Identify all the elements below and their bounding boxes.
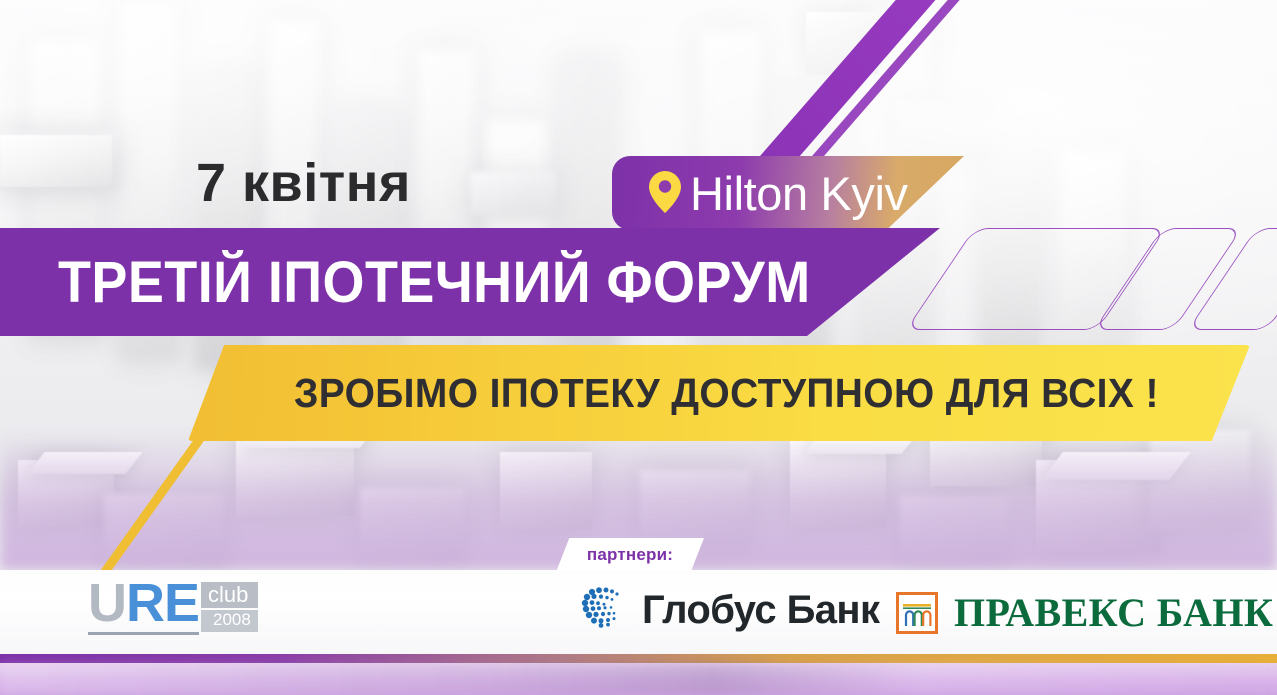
subtitle-banner: ЗРОБІМО ІПОТЕКУ ДОСТУПНОЮ ДЛЯ ВСІХ !: [188, 345, 1250, 441]
bottom-strip-shading: [0, 663, 1277, 695]
ure-club-label: club: [201, 582, 258, 608]
ure-letters-re: RE: [126, 578, 199, 630]
bottom-accent-line: [0, 654, 1277, 663]
partners-label: партнери:: [587, 545, 673, 565]
event-promo-banner: 7 квітня Hilton Kyiv ТРЕТІЙ ІПОТЕЧНИЙ ФО…: [0, 0, 1277, 695]
main-title-bar: ТРЕТІЙ ІПОТЕЧНИЙ ФОРУМ: [0, 228, 940, 336]
ure-letter-u: U: [88, 578, 126, 630]
event-subtitle: ЗРОБІМО ІПОТЕКУ ДОСТУПНОЮ ДЛЯ ВСІХ !: [294, 370, 1159, 417]
event-date: 7 квітня: [196, 152, 411, 214]
partner-logo-globus-bank[interactable]: Глобус Банк: [578, 583, 879, 638]
event-title: ТРЕТІЙ ІПОТЕЧНИЙ ФОРУМ: [58, 249, 811, 316]
venue-name: Hilton Kyiv: [690, 166, 908, 221]
location-pin-icon: [648, 170, 682, 219]
arches-square-icon: [896, 592, 938, 634]
ure-year-label: 2008: [201, 610, 258, 632]
pravex-bank-name: ПРАВЕКС БАНК: [954, 589, 1273, 636]
ure-wordmark: U RE: [88, 578, 199, 635]
partners-tab: партнери:: [556, 538, 704, 572]
globe-dots-icon: [578, 583, 628, 638]
ure-side-boxes: club 2008: [201, 582, 258, 632]
partner-logo-ure-club[interactable]: U RE club 2008: [88, 578, 258, 635]
partner-logo-pravex-bank[interactable]: ПРАВЕКС БАНК: [896, 589, 1273, 636]
globus-bank-name: Глобус Банк: [642, 588, 879, 633]
